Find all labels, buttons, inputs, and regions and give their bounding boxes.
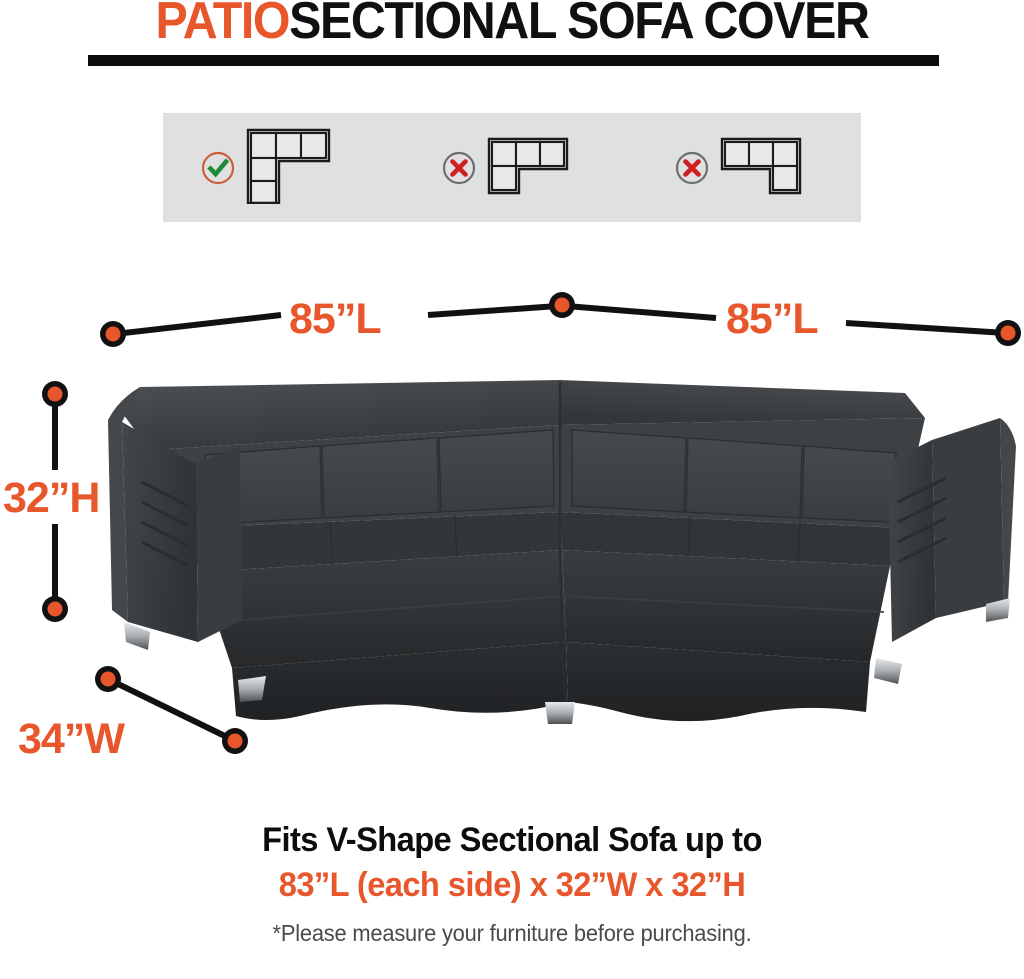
sofa-cover-illustration	[0, 250, 1024, 810]
title-underline-rule	[88, 55, 939, 66]
shape-option-compatible	[163, 113, 396, 222]
fit-caption-line-2: 83”L (each side) x 32”W x 32”H	[20, 862, 1003, 908]
sofa-shape-short-l-diagram	[486, 135, 582, 200]
cross-circle-icon	[675, 151, 709, 185]
page-title-rest: SECTIONAL SOFA COVER	[289, 0, 868, 50]
fit-caption-note: *Please measure your furniture before pu…	[26, 920, 999, 947]
dimension-label-height: 32”H	[3, 477, 99, 520]
sofa-shape-right-corner-diagram	[719, 135, 815, 200]
dimension-label-length-right: 85”L	[726, 298, 818, 341]
shape-option-incompatible-right-corner	[628, 113, 861, 222]
fit-caption: Fits V-Shape Sectional Sofa up to 83”L (…	[0, 818, 1024, 947]
page-title-highlight: PATIO	[155, 0, 289, 50]
shape-compatibility-strip	[163, 113, 861, 222]
page-title-text: PATIOSECTIONAL SOFA COVER	[36, 0, 988, 50]
dimension-label-length-left: 85”L	[289, 298, 381, 341]
check-circle-icon	[201, 151, 235, 185]
sofa-shape-left-corner-diagram	[245, 126, 357, 209]
shape-option-incompatible-short-l	[396, 113, 629, 222]
dimension-label-width: 34”W	[18, 718, 124, 761]
cross-circle-icon	[442, 151, 476, 185]
fit-caption-line-1: Fits V-Shape Sectional Sofa up to	[20, 818, 1003, 862]
product-image	[0, 250, 1024, 810]
page-title: PATIOSECTIONAL SOFA COVER	[0, 0, 1024, 50]
